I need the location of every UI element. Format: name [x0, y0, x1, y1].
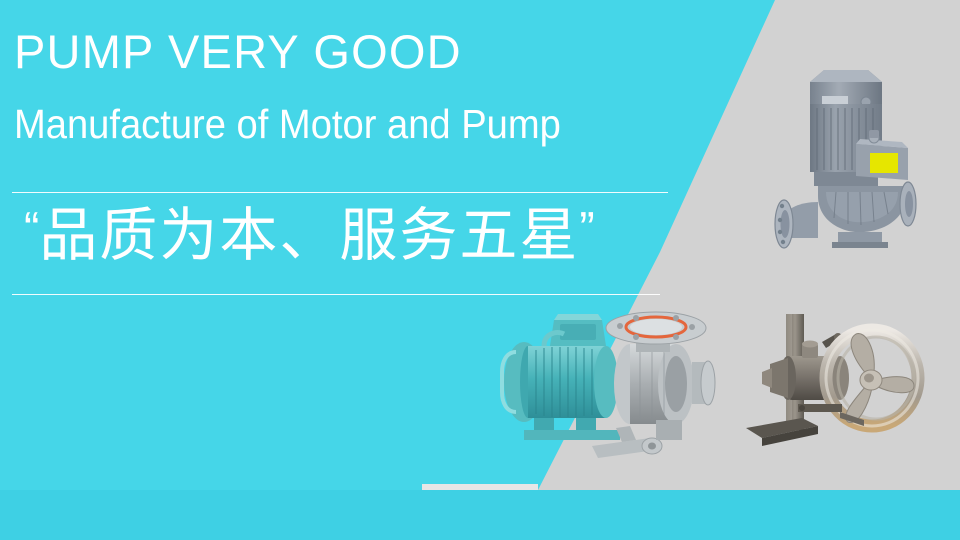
divider-bottom	[12, 294, 660, 295]
accent-bar	[422, 484, 538, 490]
product-image-vertical-inline-pipeline-pump	[760, 52, 960, 252]
promotional-banner: PUMP VERY GOOD Manufacture of Motor and …	[0, 0, 960, 540]
slogan-text: 品质为本、服务五星	[39, 203, 579, 268]
product-image-submersible-mixer	[740, 300, 950, 450]
bottom-cyan-band	[0, 490, 960, 540]
page-title: PUMP VERY GOOD	[14, 28, 462, 75]
subtitle: Manufacture of Motor and Pump	[14, 104, 561, 145]
open-quote-mark: “	[24, 202, 39, 254]
slogan: “品质为本、服务五星”	[24, 202, 595, 269]
text-block: PUMP VERY GOOD Manufacture of Motor and …	[0, 0, 720, 320]
product-image-horizontal-centrifugal-pump	[480, 300, 740, 470]
divider-top	[12, 192, 668, 193]
close-quote-mark: ”	[579, 202, 594, 254]
